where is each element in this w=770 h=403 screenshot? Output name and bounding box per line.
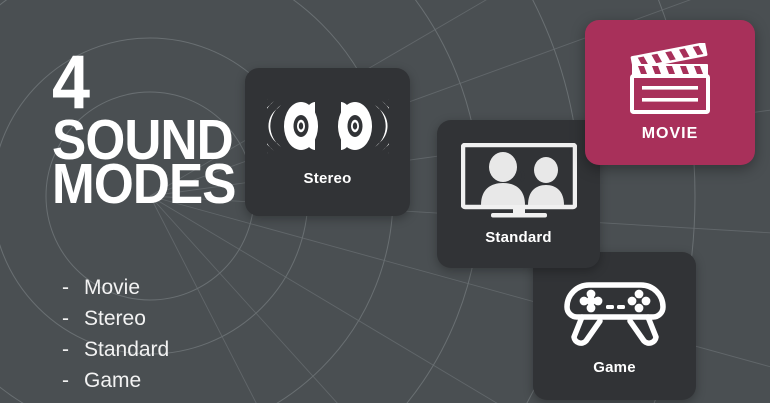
list-item: - Movie [62, 272, 169, 303]
tile-label: MOVIE [642, 125, 699, 143]
tile-standard[interactable]: Standard [437, 120, 600, 268]
tile-game[interactable]: Game [533, 252, 696, 400]
list-bullet: - [62, 334, 84, 365]
tile-label: Stereo [304, 170, 352, 187]
clapperboard-icon [628, 43, 712, 115]
gamepad-icon [564, 277, 666, 347]
tile-movie[interactable]: MOVIE [585, 20, 755, 165]
headline-block: 4 SOUND MODES [52, 52, 272, 209]
list-item-label: Game [84, 365, 141, 396]
tv-two-people-icon [461, 143, 577, 219]
page-title-number: 4 [52, 52, 250, 114]
list-item: - Game [62, 365, 169, 396]
list-bullet: - [62, 272, 84, 303]
mode-list: - Movie - Stereo - Standard - Game [62, 272, 169, 396]
list-item-label: Movie [84, 272, 140, 303]
list-bullet: - [62, 303, 84, 334]
tile-label: Standard [485, 229, 552, 246]
list-item-label: Standard [84, 334, 169, 365]
stereo-speakers-icon [267, 98, 389, 154]
list-item: - Standard [62, 334, 169, 365]
list-item-label: Stereo [84, 303, 146, 334]
tile-label: Game [593, 359, 636, 376]
page-title-line-2: MODES [52, 160, 250, 209]
sound-modes-infographic: 4 SOUND MODES - Movie - Stereo - Standar… [0, 0, 770, 403]
list-bullet: - [62, 365, 84, 396]
list-item: - Stereo [62, 303, 169, 334]
